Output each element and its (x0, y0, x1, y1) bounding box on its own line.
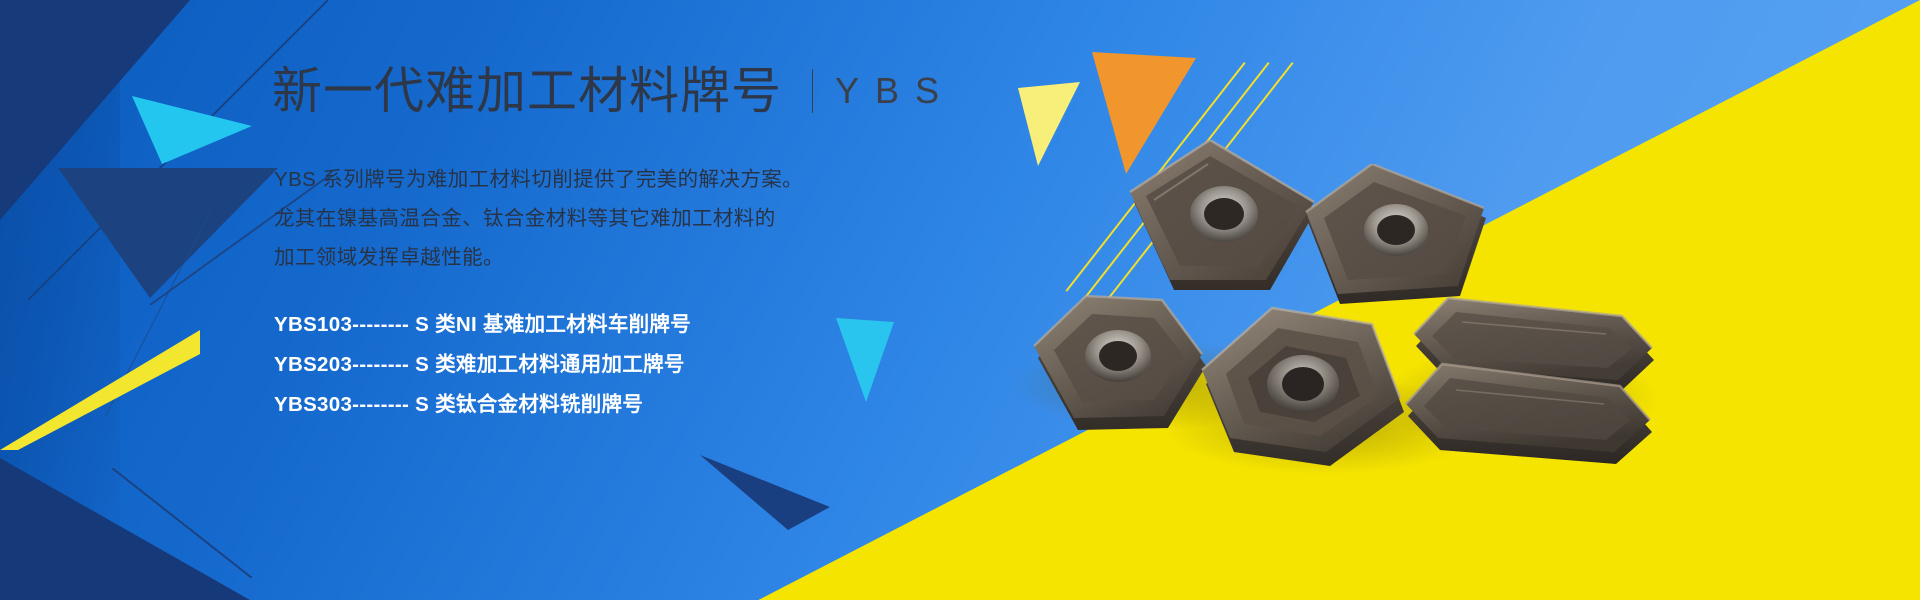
list-item: YBS103-------- S 类NI 基难加工材料车削牌号 (274, 305, 691, 345)
carbide-insert-product-group (1000, 140, 1640, 540)
description-line: YBS 系列牌号为难加工材料切削提供了完美的解决方案。 (274, 160, 803, 199)
headline-subtitle: YBS (835, 70, 955, 112)
navy-diagonal-stroke-bottom (112, 468, 252, 578)
product-grade-list: YBS103-------- S 类NI 基难加工材料车削牌号 YBS203--… (274, 305, 691, 425)
page-title: 新一代难加工材料牌号 (272, 66, 782, 116)
description-line: 加工领域发挥卓越性能。 (274, 238, 803, 277)
grooving-bar-insert-lower (1400, 346, 1660, 486)
list-item: YBS303-------- S 类钛合金材料铣削牌号 (274, 385, 691, 425)
headline-divider (812, 69, 813, 113)
list-item: YBS203-------- S 类难加工材料通用加工牌号 (274, 345, 691, 385)
description-line: 龙其在镍基高温合金、钛合金材料等其它难加工材料的 (274, 199, 803, 238)
headline-row: 新一代难加工材料牌号 YBS (272, 66, 955, 116)
banner-text-content: 新一代难加工材料牌号 YBS YBS 系列牌号为难加工材料切削提供了完美的解决方… (272, 0, 1032, 600)
ybs-product-banner: 新一代难加工材料牌号 YBS YBS 系列牌号为难加工材料切削提供了完美的解决方… (0, 0, 1920, 600)
description-paragraph: YBS 系列牌号为难加工材料切削提供了完美的解决方案。 龙其在镍基高温合金、钛合… (274, 160, 803, 277)
square-milling-insert (1190, 302, 1420, 492)
